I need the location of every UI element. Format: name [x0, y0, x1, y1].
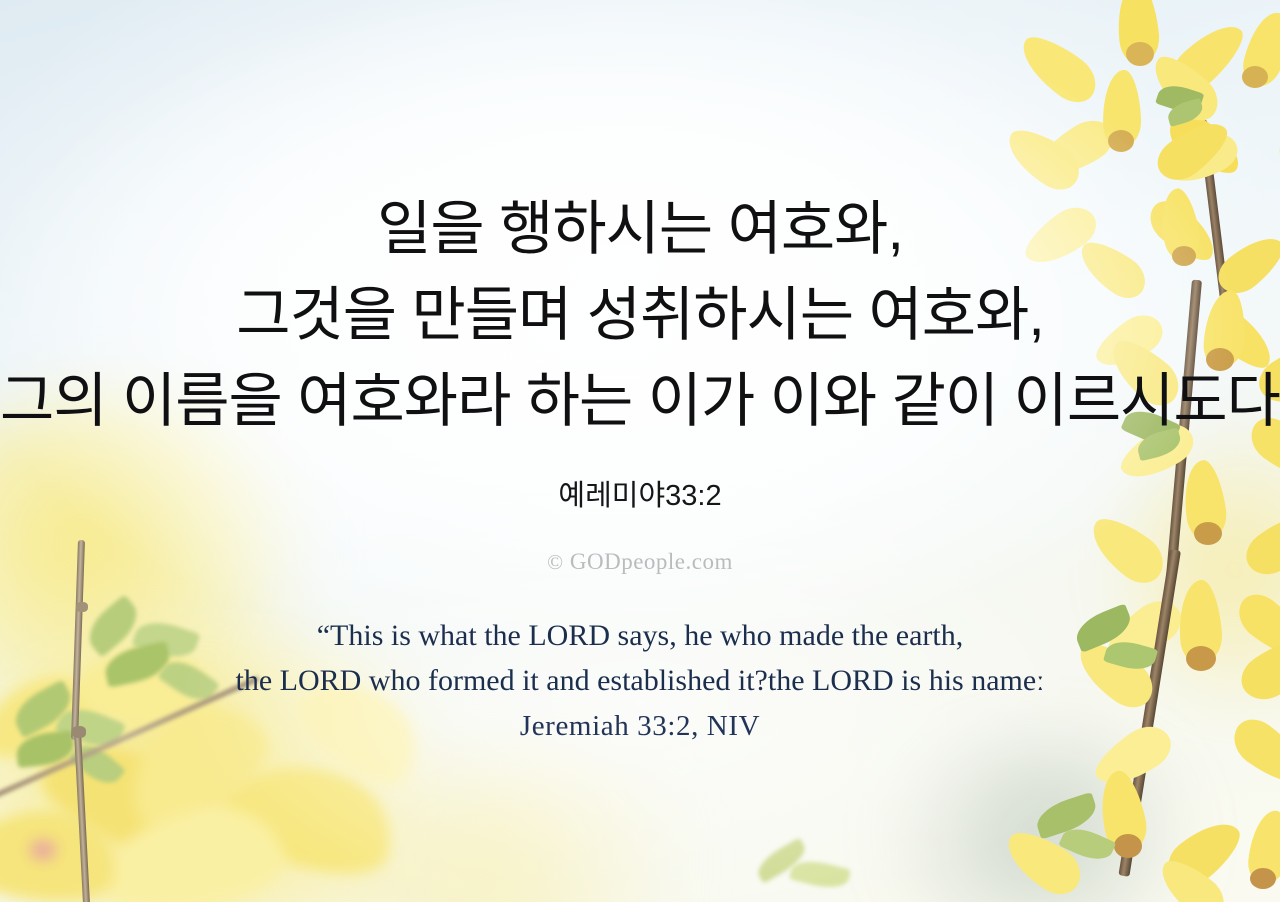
korean-verse-line-3: 그의 이름을 여호와라 하는 이가 이와 같이 이르시도다: [0, 358, 1280, 444]
korean-verse-reference: 예레미야33:2: [0, 472, 1280, 514]
copyright-site-name: GODpeople.com: [570, 549, 733, 574]
english-verse-block: “This is what the LORD says, he who made…: [0, 613, 1280, 703]
english-verse-line-1: “This is what the LORD says, he who made…: [0, 613, 1280, 658]
scripture-card: 일을 행하시는 여호와, 그것을 만들며 성취하시는 여호와, 그의 이름을 여…: [0, 0, 1280, 902]
korean-verse-line-2: 그것을 만들며 성취하시는 여호와,: [0, 272, 1280, 358]
korean-verse-line-1: 일을 행하시는 여호와,: [0, 186, 1280, 272]
copyright-credit: © GODpeople.com: [0, 549, 1280, 575]
korean-verse-block: 일을 행하시는 여호와, 그것을 만들며 성취하시는 여호와, 그의 이름을 여…: [0, 186, 1280, 444]
english-verse-reference: Jeremiah 33:2, NIV: [0, 710, 1280, 743]
english-verse-line-2: the LORD who formed it and established i…: [0, 658, 1280, 703]
text-layer: 일을 행하시는 여호와, 그것을 만들며 성취하시는 여호와, 그의 이름을 여…: [0, 0, 1280, 902]
copyright-icon: ©: [547, 550, 563, 574]
